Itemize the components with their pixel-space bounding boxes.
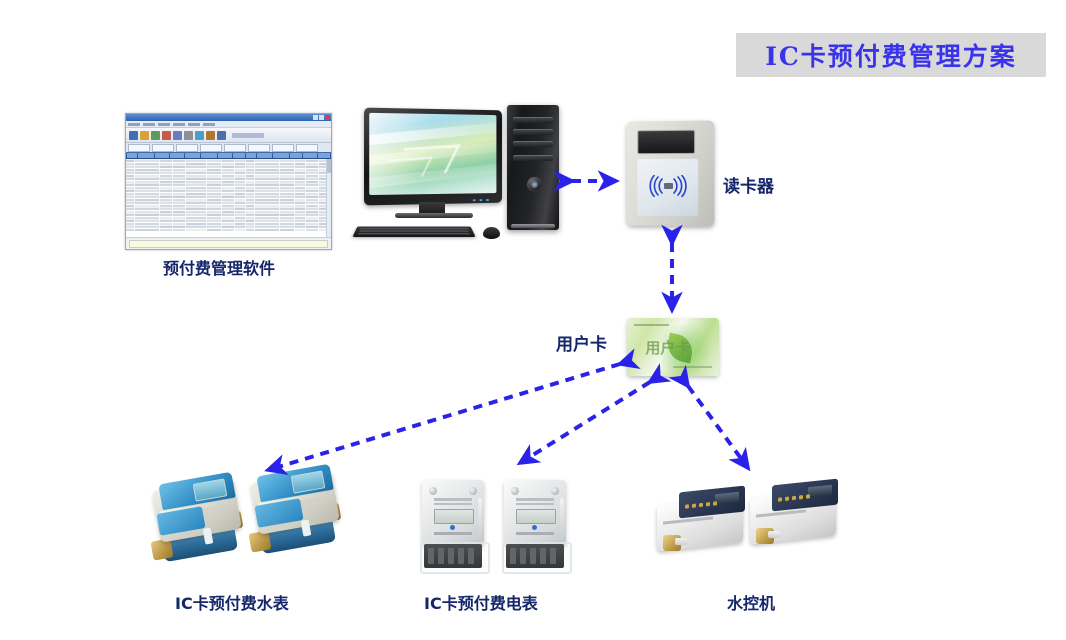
label-card-reader: 读卡器 (723, 172, 774, 197)
monitor-stand-base (395, 213, 473, 218)
table-row[interactable] (126, 228, 331, 231)
electric-meter-lcd (516, 509, 556, 524)
label-management-software: 预付费管理软件 (163, 255, 275, 279)
electric-meter-lcd (434, 509, 474, 524)
label-water-controller: 水控机 (727, 590, 775, 614)
toolbar-icon (151, 131, 160, 140)
arrow-card-electricmeter (520, 382, 650, 463)
toolbar-icon (184, 131, 193, 140)
ic-user-card: 用户卡 (627, 318, 719, 376)
water-meter (248, 462, 348, 567)
pc-tower (507, 105, 559, 230)
arrow-card-watercontroller (688, 386, 748, 468)
diagram-canvas: IC卡预付费管理方案 (0, 0, 1066, 640)
status-led (532, 525, 537, 530)
reader-card-pad (637, 159, 698, 216)
label-water-meter: IC卡预付费水表 (175, 590, 289, 614)
toolbar-icon (173, 131, 182, 140)
monitor-screen (369, 113, 496, 195)
desktop-computer (355, 105, 560, 250)
software-menu-bar (126, 121, 331, 128)
table-header-row (126, 152, 331, 159)
user-card-face-text: 用户卡 (645, 337, 690, 358)
toolbar-icon (129, 131, 138, 140)
water-controller (748, 478, 843, 550)
water-meter (150, 470, 250, 575)
table-body[interactable] (126, 159, 331, 237)
software-tab-row (126, 143, 331, 152)
toolbar-icon (206, 131, 215, 140)
tower-base (511, 224, 555, 228)
window-controls (313, 115, 330, 120)
toolbar-icon (217, 131, 226, 140)
software-status-bar (126, 237, 331, 250)
monitor-leds (473, 199, 489, 201)
ic-card-reader (626, 121, 716, 228)
reader-body (627, 120, 715, 226)
label-user-card: 用户卡 (556, 330, 607, 355)
electric-meter (418, 476, 490, 576)
power-button[interactable] (527, 177, 542, 192)
status-led (450, 525, 455, 530)
rfid-wave-icon (640, 175, 696, 197)
monitor (364, 108, 502, 206)
electric-meter (500, 476, 572, 576)
label-electric-meter: IC卡预付费电表 (424, 590, 538, 614)
software-title-bar (126, 114, 331, 121)
toolbar-icon (140, 131, 149, 140)
toolbar-icon (195, 131, 204, 140)
page-title: IC卡预付费管理方案 (765, 37, 1017, 73)
title-banner: IC卡预付费管理方案 (736, 33, 1046, 77)
vertical-scrollbar[interactable] (326, 159, 331, 237)
toolbar-icon (162, 131, 171, 140)
software-toolbar (126, 128, 331, 143)
status-field (129, 240, 328, 248)
keyboard (352, 226, 475, 236)
arrow-card-watermeter (268, 364, 620, 470)
toolbar-combobox (232, 133, 264, 138)
water-controller (655, 485, 750, 557)
reader-lcd-display (637, 130, 695, 154)
status-field (129, 249, 328, 250)
mouse (483, 227, 500, 239)
management-software-window (125, 113, 332, 250)
